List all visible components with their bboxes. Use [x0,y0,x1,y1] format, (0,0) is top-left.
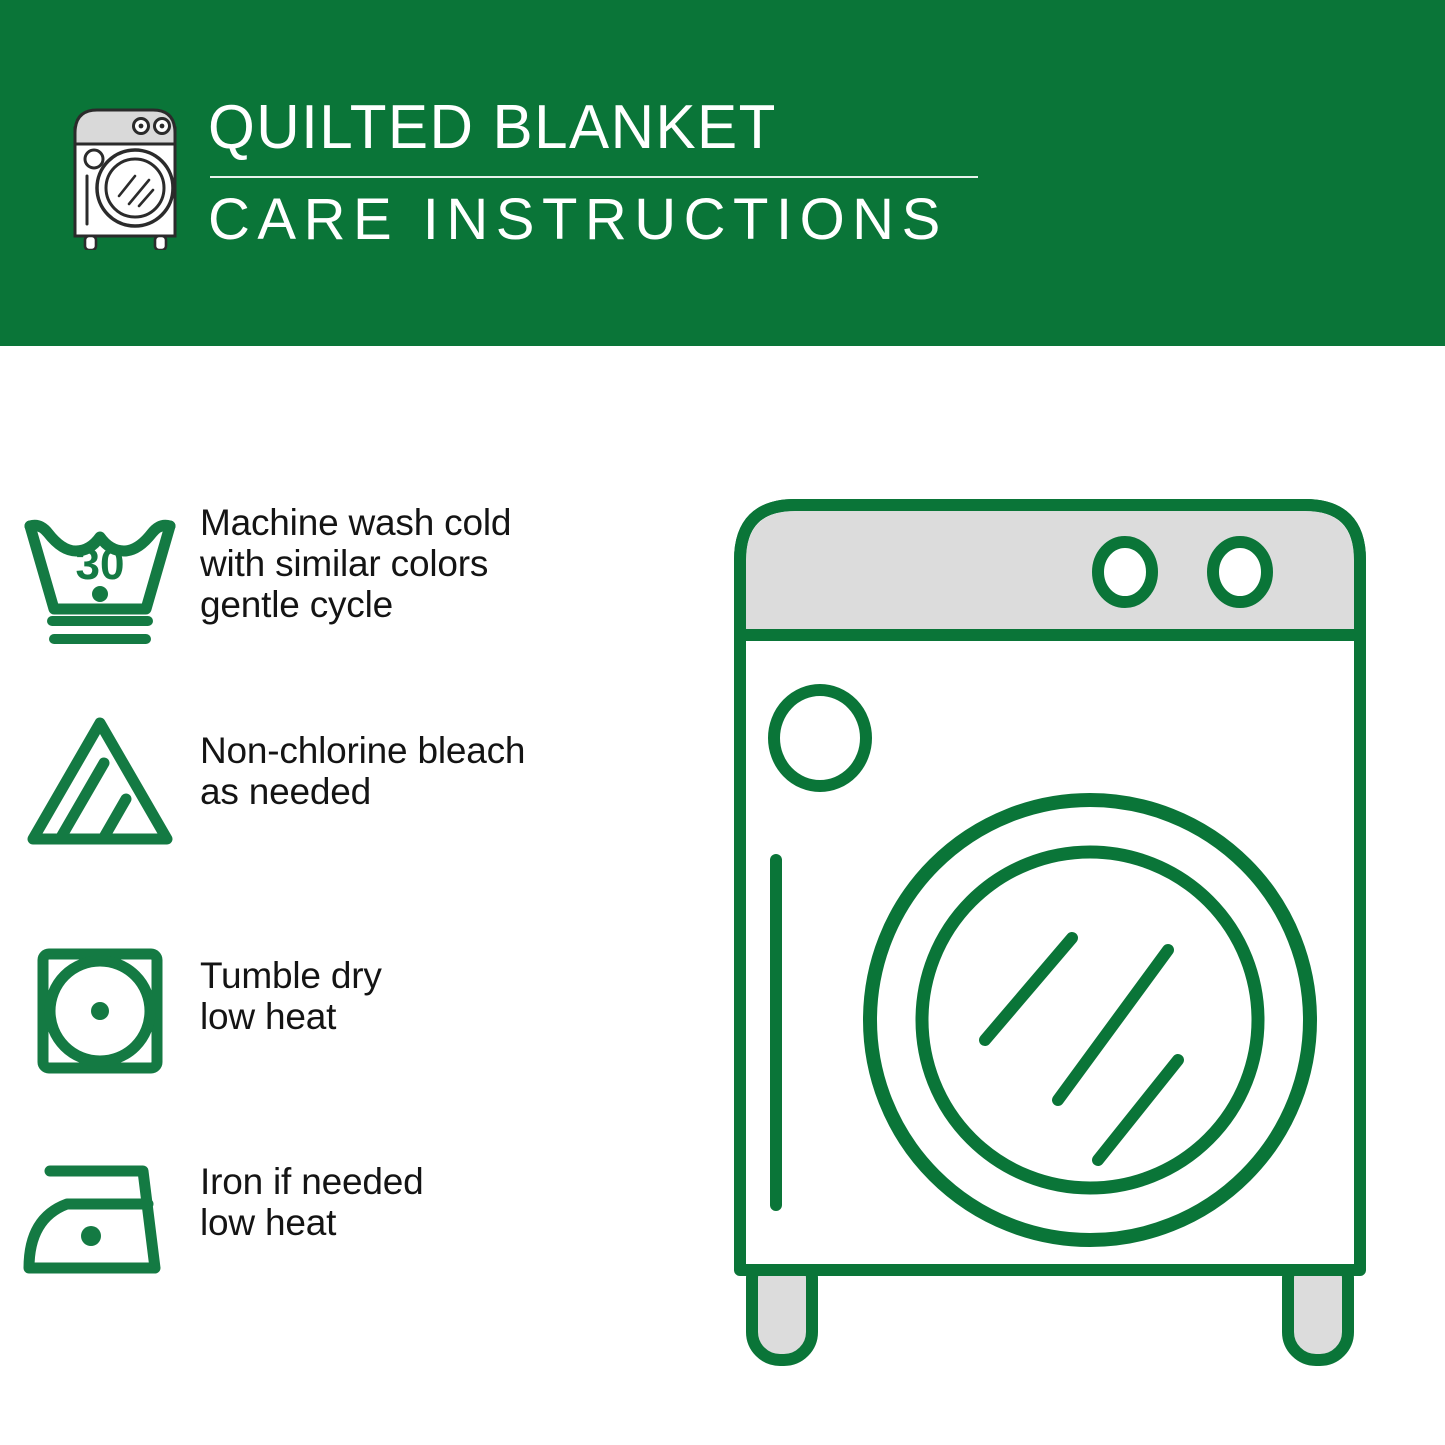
header-content: QUILTED BLANKET CARE INSTRUCTIONS [60,92,1060,262]
washing-machine-icon [65,100,190,250]
care-instruction-text: Iron if needed low heat [200,1141,423,1243]
care-text-line: Iron if needed [200,1161,423,1202]
care-instructions-page: QUILTED BLANKET CARE INSTRUCTIONS [0,0,1445,1445]
care-instruction-text: Tumble dry low heat [200,931,382,1037]
page-subtitle: CARE INSTRUCTIONS [208,188,1048,252]
care-text-line: low heat [200,1202,423,1243]
wash-temperature-value: 30 [76,540,125,589]
non-chlorine-bleach-triangle-icon [0,706,200,866]
drum-door-inner-ring [922,852,1258,1188]
detergent-indicator-circle [774,690,866,786]
tumble-dry-low-icon [0,931,200,1091]
care-text-line: with similar colors [200,543,511,584]
wash-basin-30-gentle-icon: 30 [0,496,200,656]
care-text-line: low heat [200,996,382,1037]
care-instruction-item: Non-chlorine bleach as needed [0,706,700,866]
page-title: QUILTED BLANKET [208,92,1023,164]
care-instruction-item: Iron if needed low heat [0,1141,700,1301]
care-instruction-text: Non-chlorine bleach as needed [200,706,525,812]
knob-right [1213,542,1267,602]
care-text-line: Machine wash cold [200,502,511,543]
iron-low-heat-icon [0,1141,200,1301]
care-instruction-text: Machine wash cold with similar colors ge… [200,496,511,625]
care-instruction-item: Tumble dry low heat [0,931,700,1091]
care-text-line: as needed [200,771,525,812]
care-text-line: gentle cycle [200,584,511,625]
care-instruction-list: 30 Machine wash cold with similar colors… [0,346,700,1445]
title-divider [210,176,978,178]
header-band: QUILTED BLANKET CARE INSTRUCTIONS [0,0,1445,346]
care-text-line: Non-chlorine bleach [200,730,525,771]
front-loading-washing-machine-illustration [700,460,1445,1390]
care-instruction-item: 30 Machine wash cold with similar colors… [0,496,700,656]
header-title-block: QUILTED BLANKET CARE INSTRUCTIONS [208,92,1048,252]
knob-left [1098,542,1152,602]
care-text-line: Tumble dry [200,955,382,996]
